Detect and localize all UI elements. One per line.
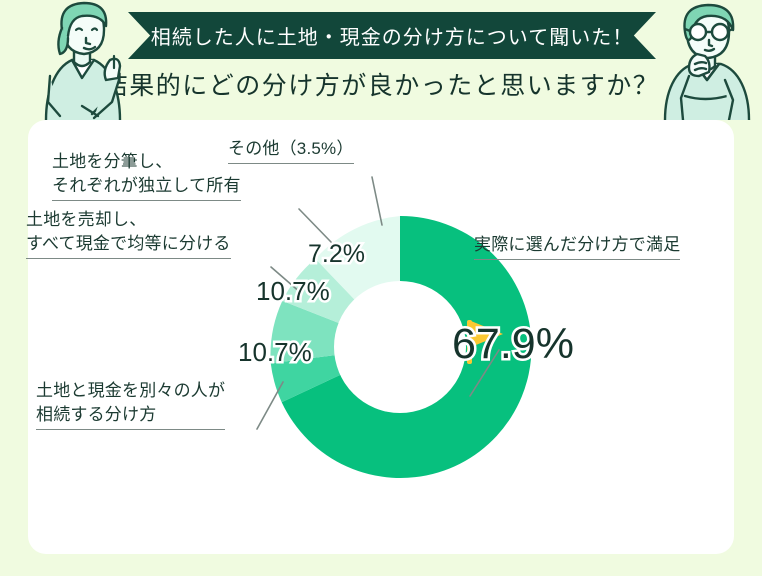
leader-line-betsu [257,382,283,429]
value-label-betsu: 10.7% [238,337,312,368]
callout-betsu-line2: 相続する分け方 [36,403,225,427]
callout-betsu-line1: 土地と現金を別々の人が [36,379,225,403]
callout-baikyaku-line2: すべて現金で均等に分ける [26,232,231,256]
banner-shape: 相続した人に土地・現金の分け方について聞いた！ [128,12,656,59]
callout-other: その他（3.5%） [228,137,354,164]
header-banner: 相続した人に土地・現金の分け方について聞いた！ [128,12,656,59]
value-label-manzoku: 67.9% [452,320,574,369]
callout-manzoku-line1: 実際に選んだ分け方で満足 [474,233,680,257]
man-thinking-illustration [655,0,761,125]
callout-manzoku: 実際に選んだ分け方で満足 [474,233,680,260]
value-label-baikyaku: 10.7% [256,276,330,307]
banner-text: 相続した人に土地・現金の分け方について聞いた！ [151,21,633,50]
leader-line-other [372,177,382,225]
callout-bunpitsu: 土地を分筆し、 それぞれが独立して所有 [52,150,241,201]
callout-other-line1: その他（3.5%） [228,137,354,161]
callout-baikyaku-line1: 土地を売却し、 [26,208,231,232]
leader-line-bunpitsu [299,209,331,242]
woman-pointing-illustration [24,0,136,125]
value-label-bunpitsu: 7.2% [308,240,365,269]
callout-bunpitsu-line1: 土地を分筆し、 [52,150,241,174]
callout-bunpitsu-line2: それぞれが独立して所有 [52,174,241,198]
callout-baikyaku: 土地を売却し、 すべて現金で均等に分ける [26,208,231,259]
callout-betsu: 土地と現金を別々の人が 相続する分け方 [36,379,225,430]
infographic-root: 相続した人に土地・現金の分け方について聞いた！ 結果的にどの分け方が良かったと思… [0,0,762,576]
